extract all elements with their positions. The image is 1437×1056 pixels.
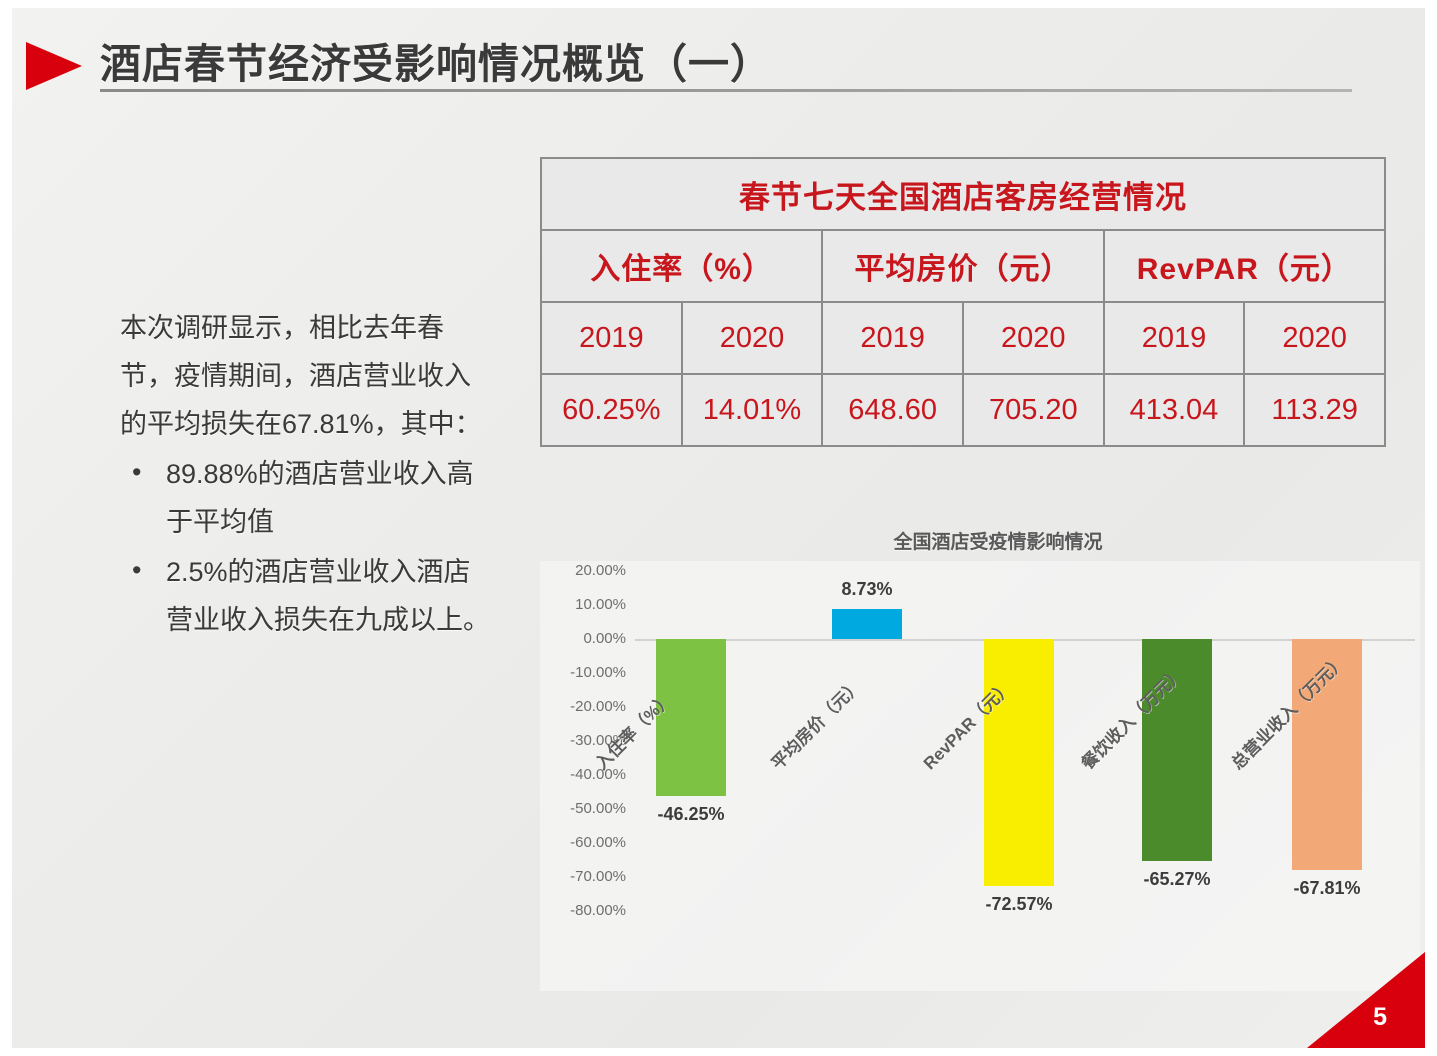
chart-bar xyxy=(832,609,902,639)
list-item: • 2.5%的酒店营业收入酒店营业收入损失在九成以上。 xyxy=(120,548,492,644)
table-cell-value: 14.01% xyxy=(682,374,823,446)
intro-paragraph: 本次调研显示，相比去年春节，疫情期间，酒店营业收入的平均损失在67.81%，其中… xyxy=(120,304,492,448)
y-axis-tick-label: -60.00% xyxy=(540,834,626,851)
table-title: 春节七天全国酒店客房经营情况 xyxy=(541,158,1385,230)
list-item: • 89.88%的酒店营业收入高于平均值 xyxy=(120,450,492,546)
table-cell-value: 60.25% xyxy=(541,374,682,446)
table-cell-value: 113.29 xyxy=(1244,374,1385,446)
slide-canvas: 酒店春节经济受影响情况概览（一） 本次调研显示，相比去年春节，疫情期间，酒店营业… xyxy=(12,8,1425,1048)
chart-data-label: -65.27% xyxy=(1122,869,1232,890)
table-row-groups: 入住率（%） 平均房价（元） RevPAR（元） xyxy=(541,230,1385,302)
table-year-header: 2020 xyxy=(963,302,1104,374)
y-axis-tick-label: 0.00% xyxy=(540,630,626,647)
chart-data-label: -46.25% xyxy=(636,804,746,825)
table-year-header: 2019 xyxy=(822,302,963,374)
table-group-header: 入住率（%） xyxy=(541,230,822,302)
impact-bar-chart: 全国酒店受疫情影响情况 20.00%10.00%0.00%-10.00%-20.… xyxy=(540,513,1420,1013)
y-axis-tick-label: 20.00% xyxy=(540,562,626,579)
chart-data-label: -67.81% xyxy=(1272,878,1382,899)
table-cell-value: 648.60 xyxy=(822,374,963,446)
table-group-header: 平均房价（元） xyxy=(822,230,1103,302)
page-number: 5 xyxy=(1373,1003,1387,1032)
y-axis-tick-label: -50.00% xyxy=(540,800,626,817)
chart-bar xyxy=(656,639,726,796)
table-group-header: RevPAR（元） xyxy=(1104,230,1385,302)
chart-data-label: 8.73% xyxy=(812,579,922,600)
y-axis-tick-label: -80.00% xyxy=(540,902,626,919)
y-axis-tick-label: 10.00% xyxy=(540,596,626,613)
table-year-header: 2020 xyxy=(1244,302,1385,374)
table-row-title: 春节七天全国酒店客房经营情况 xyxy=(541,158,1385,230)
y-axis-tick-label: -10.00% xyxy=(540,664,626,681)
table-year-header: 2019 xyxy=(541,302,682,374)
bullet-icon: • xyxy=(132,546,141,594)
header-divider xyxy=(100,89,1352,92)
table-cell-value: 705.20 xyxy=(963,374,1104,446)
bullet-icon: • xyxy=(132,448,141,496)
room-performance-table: 春节七天全国酒店客房经营情况 入住率（%） 平均房价（元） RevPAR（元） … xyxy=(540,157,1386,447)
table-year-header: 2019 xyxy=(1104,302,1245,374)
list-item-label: 89.88%的酒店营业收入高于平均值 xyxy=(166,459,474,537)
bullet-list: • 89.88%的酒店营业收入高于平均值 • 2.5%的酒店营业收入酒店营业收入… xyxy=(120,450,492,644)
left-text-block: 本次调研显示，相比去年春节，疫情期间，酒店营业收入的平均损失在67.81%，其中… xyxy=(120,304,492,644)
table-row: 60.25% 14.01% 648.60 705.20 413.04 113.2… xyxy=(541,374,1385,446)
table-cell-value: 413.04 xyxy=(1104,374,1245,446)
page-title: 酒店春节经济受影响情况概览（一） xyxy=(100,30,772,90)
list-item-label: 2.5%的酒店营业收入酒店营业收入损失在九成以上。 xyxy=(166,557,490,635)
corner-accent-shape xyxy=(1307,952,1425,1048)
chart-title: 全国酒店受疫情影响情况 xyxy=(848,527,1148,554)
table-year-header: 2020 xyxy=(682,302,823,374)
table-row-years: 2019 2020 2019 2020 2019 2020 xyxy=(541,302,1385,374)
y-axis-tick-label: -40.00% xyxy=(540,766,626,783)
chart-data-label: -72.57% xyxy=(964,894,1074,915)
header-marker-triangle-icon xyxy=(26,42,82,90)
y-axis-tick-label: -70.00% xyxy=(540,868,626,885)
y-axis-tick-label: -20.00% xyxy=(540,698,626,715)
chart-bar xyxy=(984,639,1054,886)
